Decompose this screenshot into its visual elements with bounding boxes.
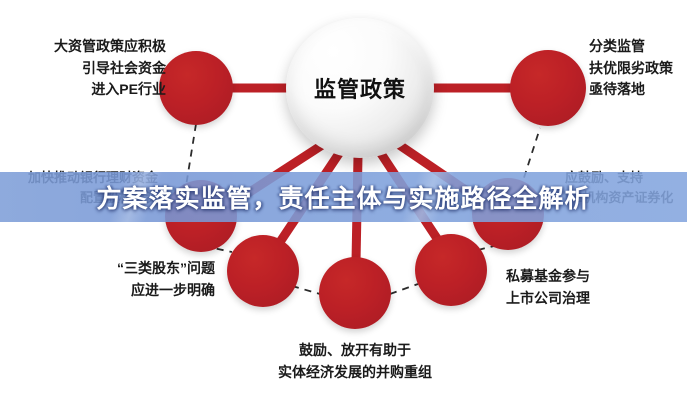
note-node-1-line-1: 大资管政策应积极 bbox=[6, 36, 166, 58]
screenshot-root: 监管政策 大资管政策应积极 引导社会资金 进入PE行业 分类监管 扶优限劣政策 … bbox=[0, 0, 687, 400]
note-node-7: 私募基金参与 上市公司治理 bbox=[506, 266, 676, 309]
note-node-1: 大资管政策应积极 引导社会资金 进入PE行业 bbox=[6, 36, 166, 101]
dash-node6-node7 bbox=[390, 284, 418, 294]
node-circle-5[interactable] bbox=[227, 235, 299, 307]
note-node-5-line-1: “三类股东”问题 bbox=[60, 258, 215, 280]
note-node-5: “三类股东”问题 应进一步明确 bbox=[60, 258, 215, 301]
hub-label: 监管政策 bbox=[314, 72, 406, 104]
hub-circle[interactable]: 监管政策 bbox=[286, 18, 434, 158]
note-node-1-line-3: 进入PE行业 bbox=[6, 79, 166, 101]
note-node-6: 鼓励、放开有助于 实体经济发展的并购重组 bbox=[215, 340, 495, 383]
dash-node5-node6 bbox=[292, 286, 320, 294]
note-node-6-line-2: 实体经济发展的并购重组 bbox=[215, 362, 495, 384]
node-circle-2[interactable] bbox=[510, 50, 586, 126]
note-node-1-line-2: 引导社会资金 bbox=[6, 58, 166, 80]
note-node-2: 分类监管 扶优限劣政策 亟待落地 bbox=[589, 36, 687, 101]
node-circle-6[interactable] bbox=[319, 257, 391, 329]
note-node-5-line-2: 应进一步明确 bbox=[60, 280, 215, 302]
node-circle-1[interactable] bbox=[159, 51, 233, 125]
note-node-7-line-1: 私募基金参与 bbox=[506, 266, 676, 288]
note-node-6-line-1: 鼓励、放开有助于 bbox=[215, 340, 495, 362]
note-node-2-line-3: 亟待落地 bbox=[589, 79, 687, 101]
note-node-7-line-2: 上市公司治理 bbox=[506, 288, 676, 310]
note-node-2-line-1: 分类监管 bbox=[589, 36, 687, 58]
note-node-2-line-2: 扶优限劣政策 bbox=[589, 58, 687, 80]
headline-text: 方案落实监管，责任主体与实施路径全解析 bbox=[0, 179, 687, 215]
node-circle-7[interactable] bbox=[415, 234, 487, 306]
